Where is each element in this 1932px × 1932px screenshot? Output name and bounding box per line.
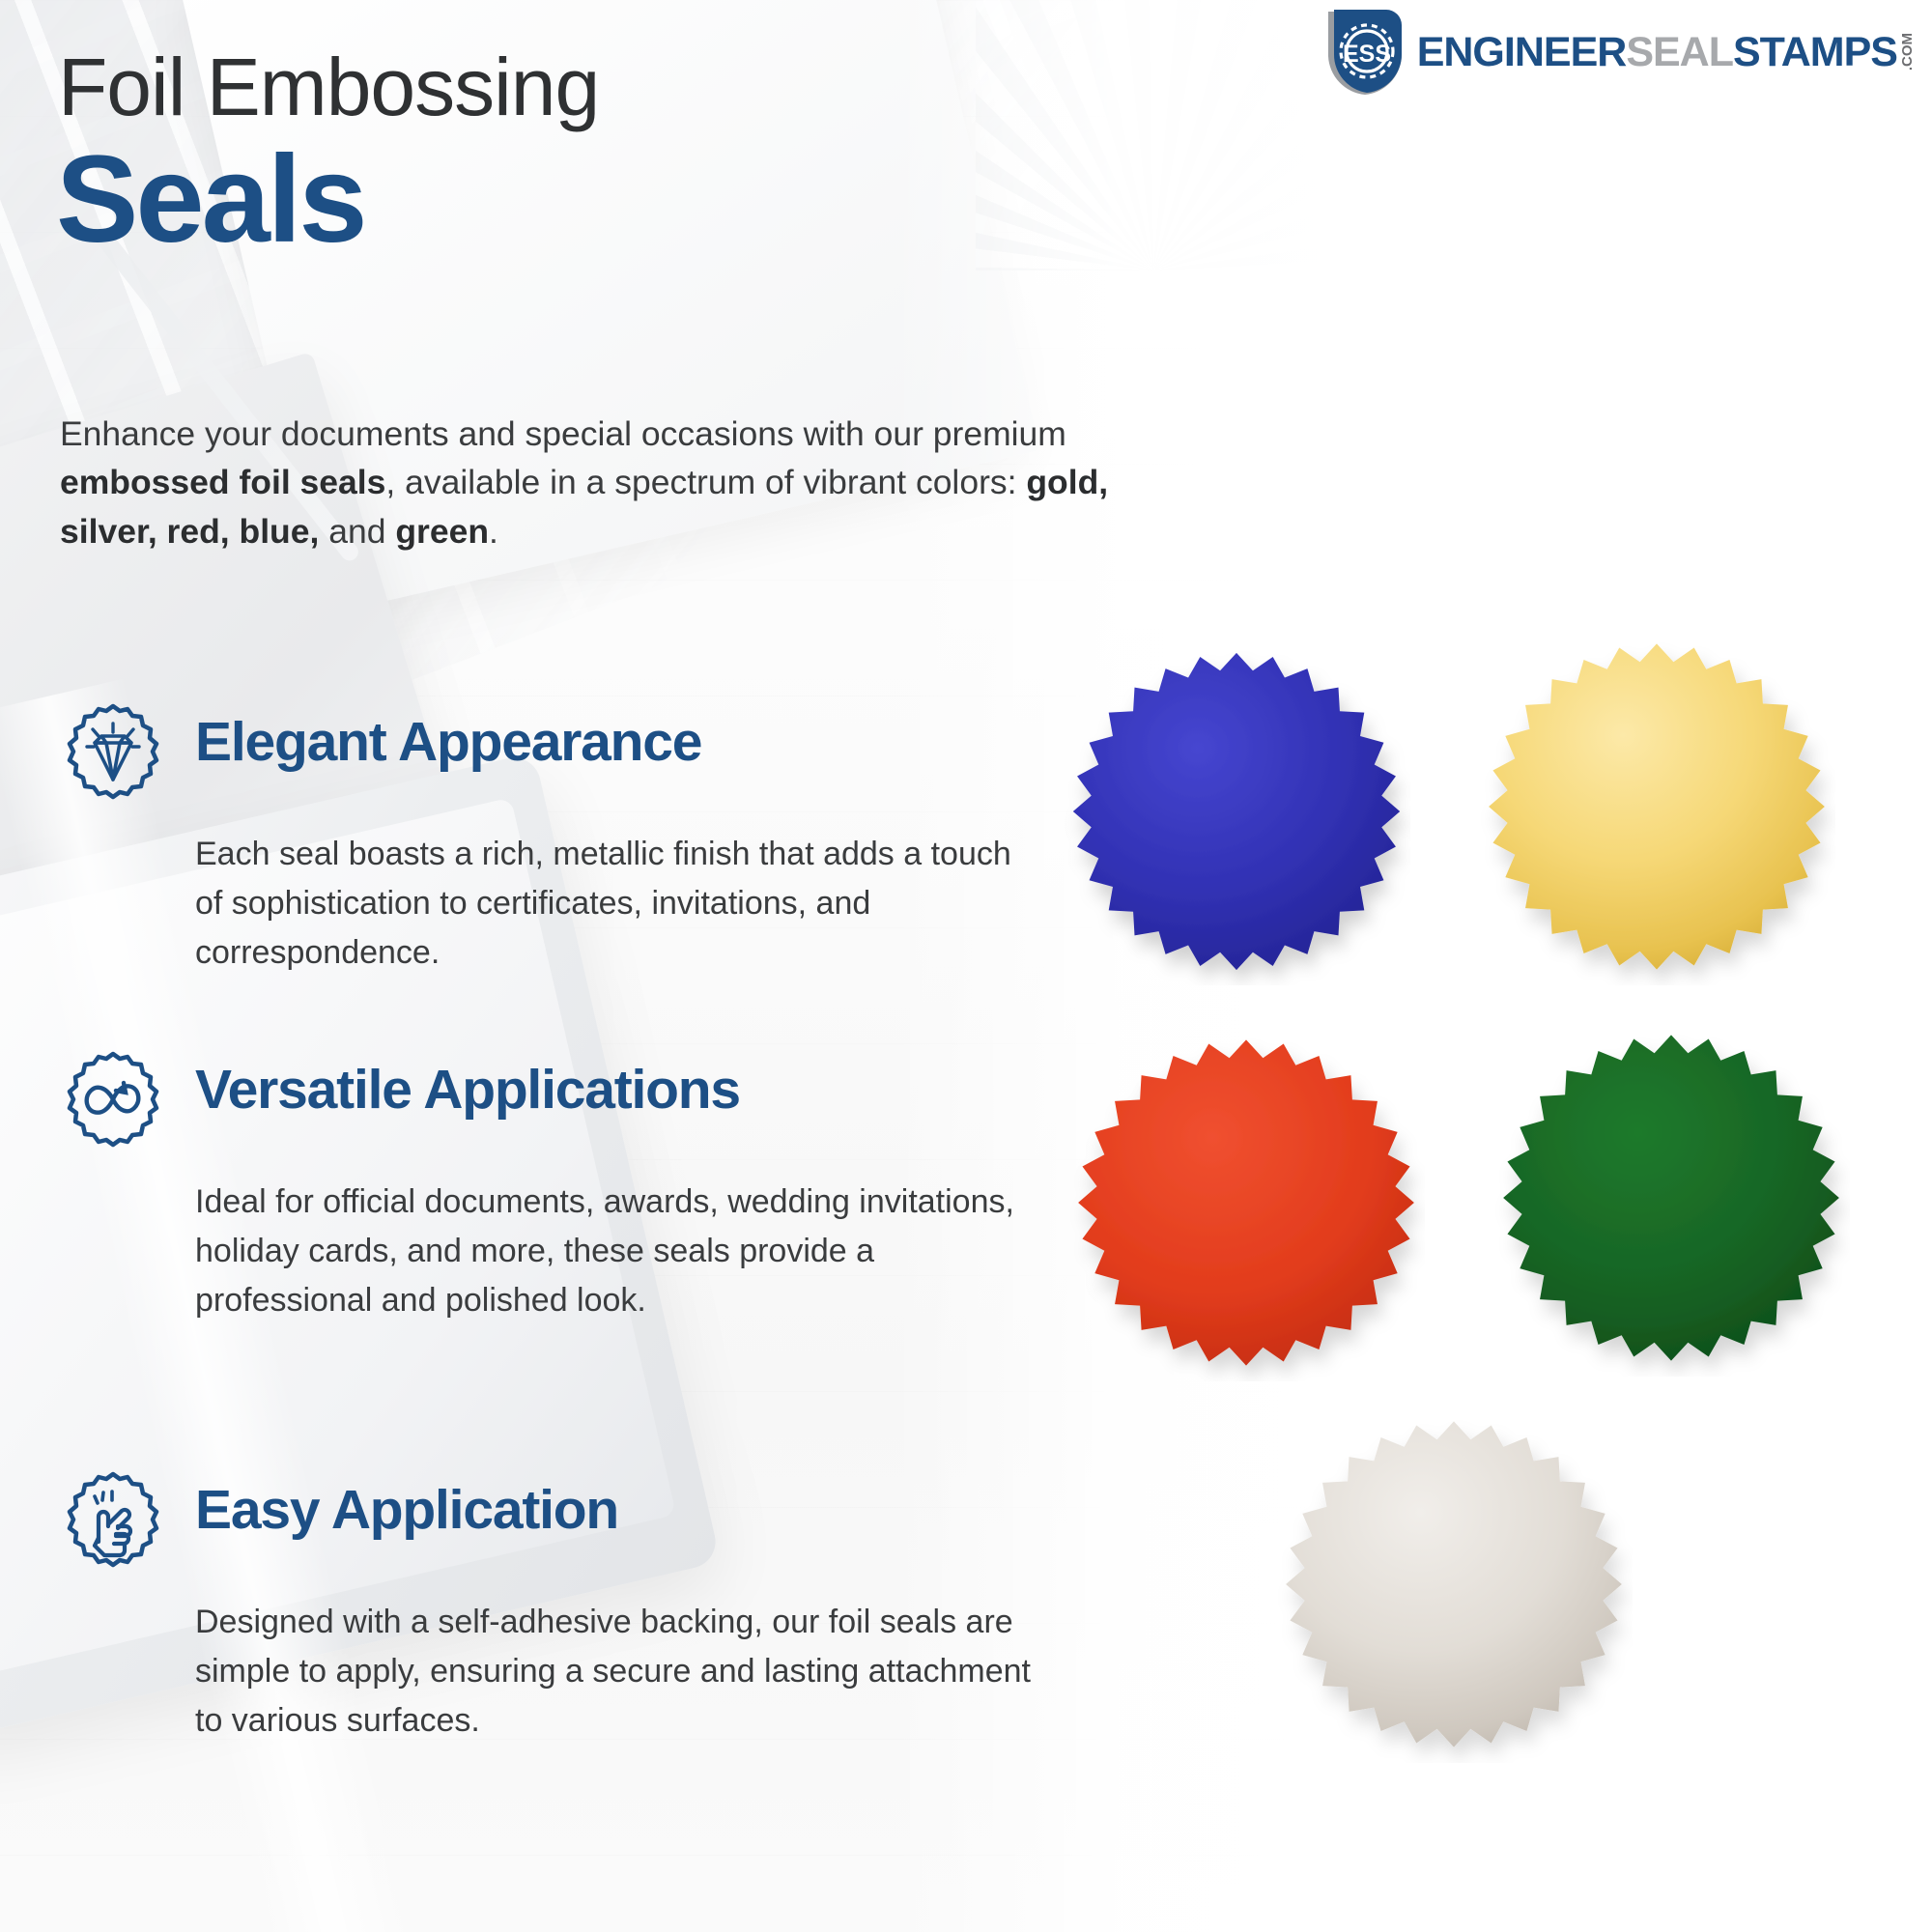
silver-foil-seal bbox=[1275, 1406, 1633, 1763]
intro-text-4: . bbox=[489, 512, 498, 551]
tap-hand-icon bbox=[56, 1468, 170, 1582]
page-title-line2: Seals bbox=[56, 135, 365, 265]
logo-word-engineer: ENGINEER bbox=[1417, 32, 1627, 73]
logo-tld: .COM bbox=[1900, 33, 1915, 71]
green-foil-seal bbox=[1492, 1019, 1850, 1377]
feature-title: Elegant Appearance bbox=[195, 700, 701, 772]
ess-shield-icon: ESS bbox=[1324, 8, 1406, 97]
diamond-icon bbox=[56, 700, 170, 814]
gold-foil-seal bbox=[1478, 628, 1835, 985]
intro-bold-1: embossed foil seals bbox=[60, 463, 385, 501]
feature-body: Ideal for official documents, awards, we… bbox=[195, 1178, 1045, 1325]
logo-word-stamps: STAMPS bbox=[1733, 32, 1897, 73]
infinity-icon bbox=[56, 1048, 170, 1162]
intro-paragraph: Enhance your documents and special occas… bbox=[60, 410, 1200, 555]
ess-logo-text: ESS bbox=[1343, 41, 1391, 68]
feature-body: Each seal boasts a rich, metallic finish… bbox=[195, 830, 1045, 978]
feature-easy-application: Easy Application Designed with a self-ad… bbox=[56, 1468, 1080, 1746]
brand-wordmark: ENGINEERSEALSTAMPS.COM bbox=[1417, 32, 1915, 73]
feature-title: Easy Application bbox=[195, 1468, 618, 1540]
page-title-line1: Foil Embossing bbox=[58, 46, 599, 128]
brand-logo[interactable]: ESS ENGINEERSEALSTAMPS.COM bbox=[1324, 8, 1915, 97]
blue-foil-seal bbox=[1063, 638, 1410, 985]
feature-elegant-appearance: Elegant Appearance Each seal boasts a ri… bbox=[56, 700, 1080, 978]
intro-bold-3: green bbox=[395, 512, 489, 551]
feature-title: Versatile Applications bbox=[195, 1048, 740, 1120]
feature-body: Designed with a self-adhesive backing, o… bbox=[195, 1598, 1045, 1746]
feature-versatile-applications: Versatile Applications Ideal for officia… bbox=[56, 1048, 1080, 1325]
intro-text-3: and bbox=[319, 512, 395, 551]
intro-text-2: , available in a spectrum of vibrant col… bbox=[385, 463, 1026, 501]
logo-word-seal: SEAL bbox=[1626, 32, 1733, 73]
intro-text-1: Enhance your documents and special occas… bbox=[60, 414, 1066, 453]
red-foil-seal bbox=[1067, 1024, 1425, 1381]
infographic-canvas: ESS ENGINEERSEALSTAMPS.COM Foil Embossin… bbox=[0, 0, 1932, 1932]
